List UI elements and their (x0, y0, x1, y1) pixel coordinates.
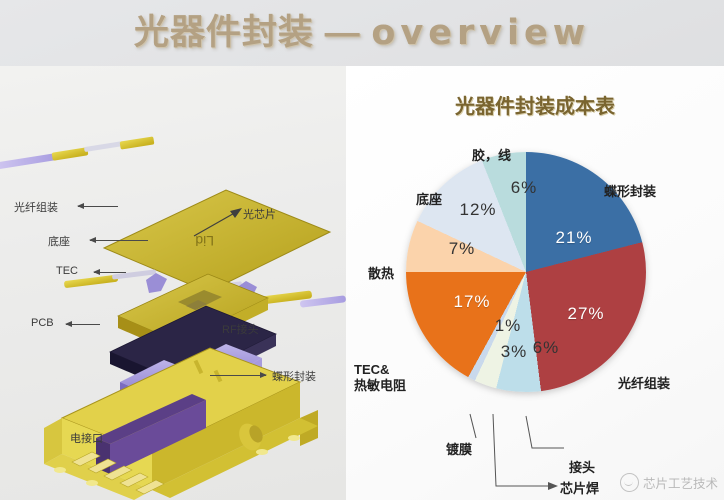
chart-panel: 光器件封装成本表 21% 27% 6% 3% 1% 17% 7% 12% 6% … (346, 66, 724, 500)
label-optical-chip: 光芯片 (243, 206, 276, 222)
arrow-optical-chip (190, 206, 246, 240)
arrow-fiber-assembly (78, 206, 118, 207)
watermark-text: 芯片工艺技术 (643, 473, 718, 492)
page-title-latin: overview (371, 13, 590, 53)
page-title-cjk: 光器件封装 (134, 13, 314, 52)
watermark: 芯片工艺技术 (620, 473, 718, 492)
label-fiber-assembly: 光纤组装 (14, 199, 58, 215)
page-title: 光器件封装 — overview (0, 4, 724, 55)
exploded-package-illustration: Lid (0, 66, 346, 500)
label-base: 底座 (48, 233, 70, 249)
slide-root: 光器件封装 — overview (0, 0, 724, 500)
arrow-tec (94, 272, 126, 273)
label-tec: TEC (56, 265, 78, 277)
page-title-dash: — (325, 13, 361, 52)
pie-leader-lines (346, 66, 724, 500)
label-butterfly-package: 蝶形封装 (272, 368, 316, 384)
label-rf-connector: RF接头 (222, 321, 259, 337)
arrow-base (90, 240, 148, 241)
arrow-butterfly-package (210, 375, 266, 376)
arrow-pcb (66, 324, 100, 325)
label-electrical-interface: 电接口 (70, 430, 103, 446)
watermark-logo-icon (620, 473, 639, 492)
diagram-panel: Lid (0, 66, 346, 500)
label-pcb: PCB (31, 317, 54, 329)
